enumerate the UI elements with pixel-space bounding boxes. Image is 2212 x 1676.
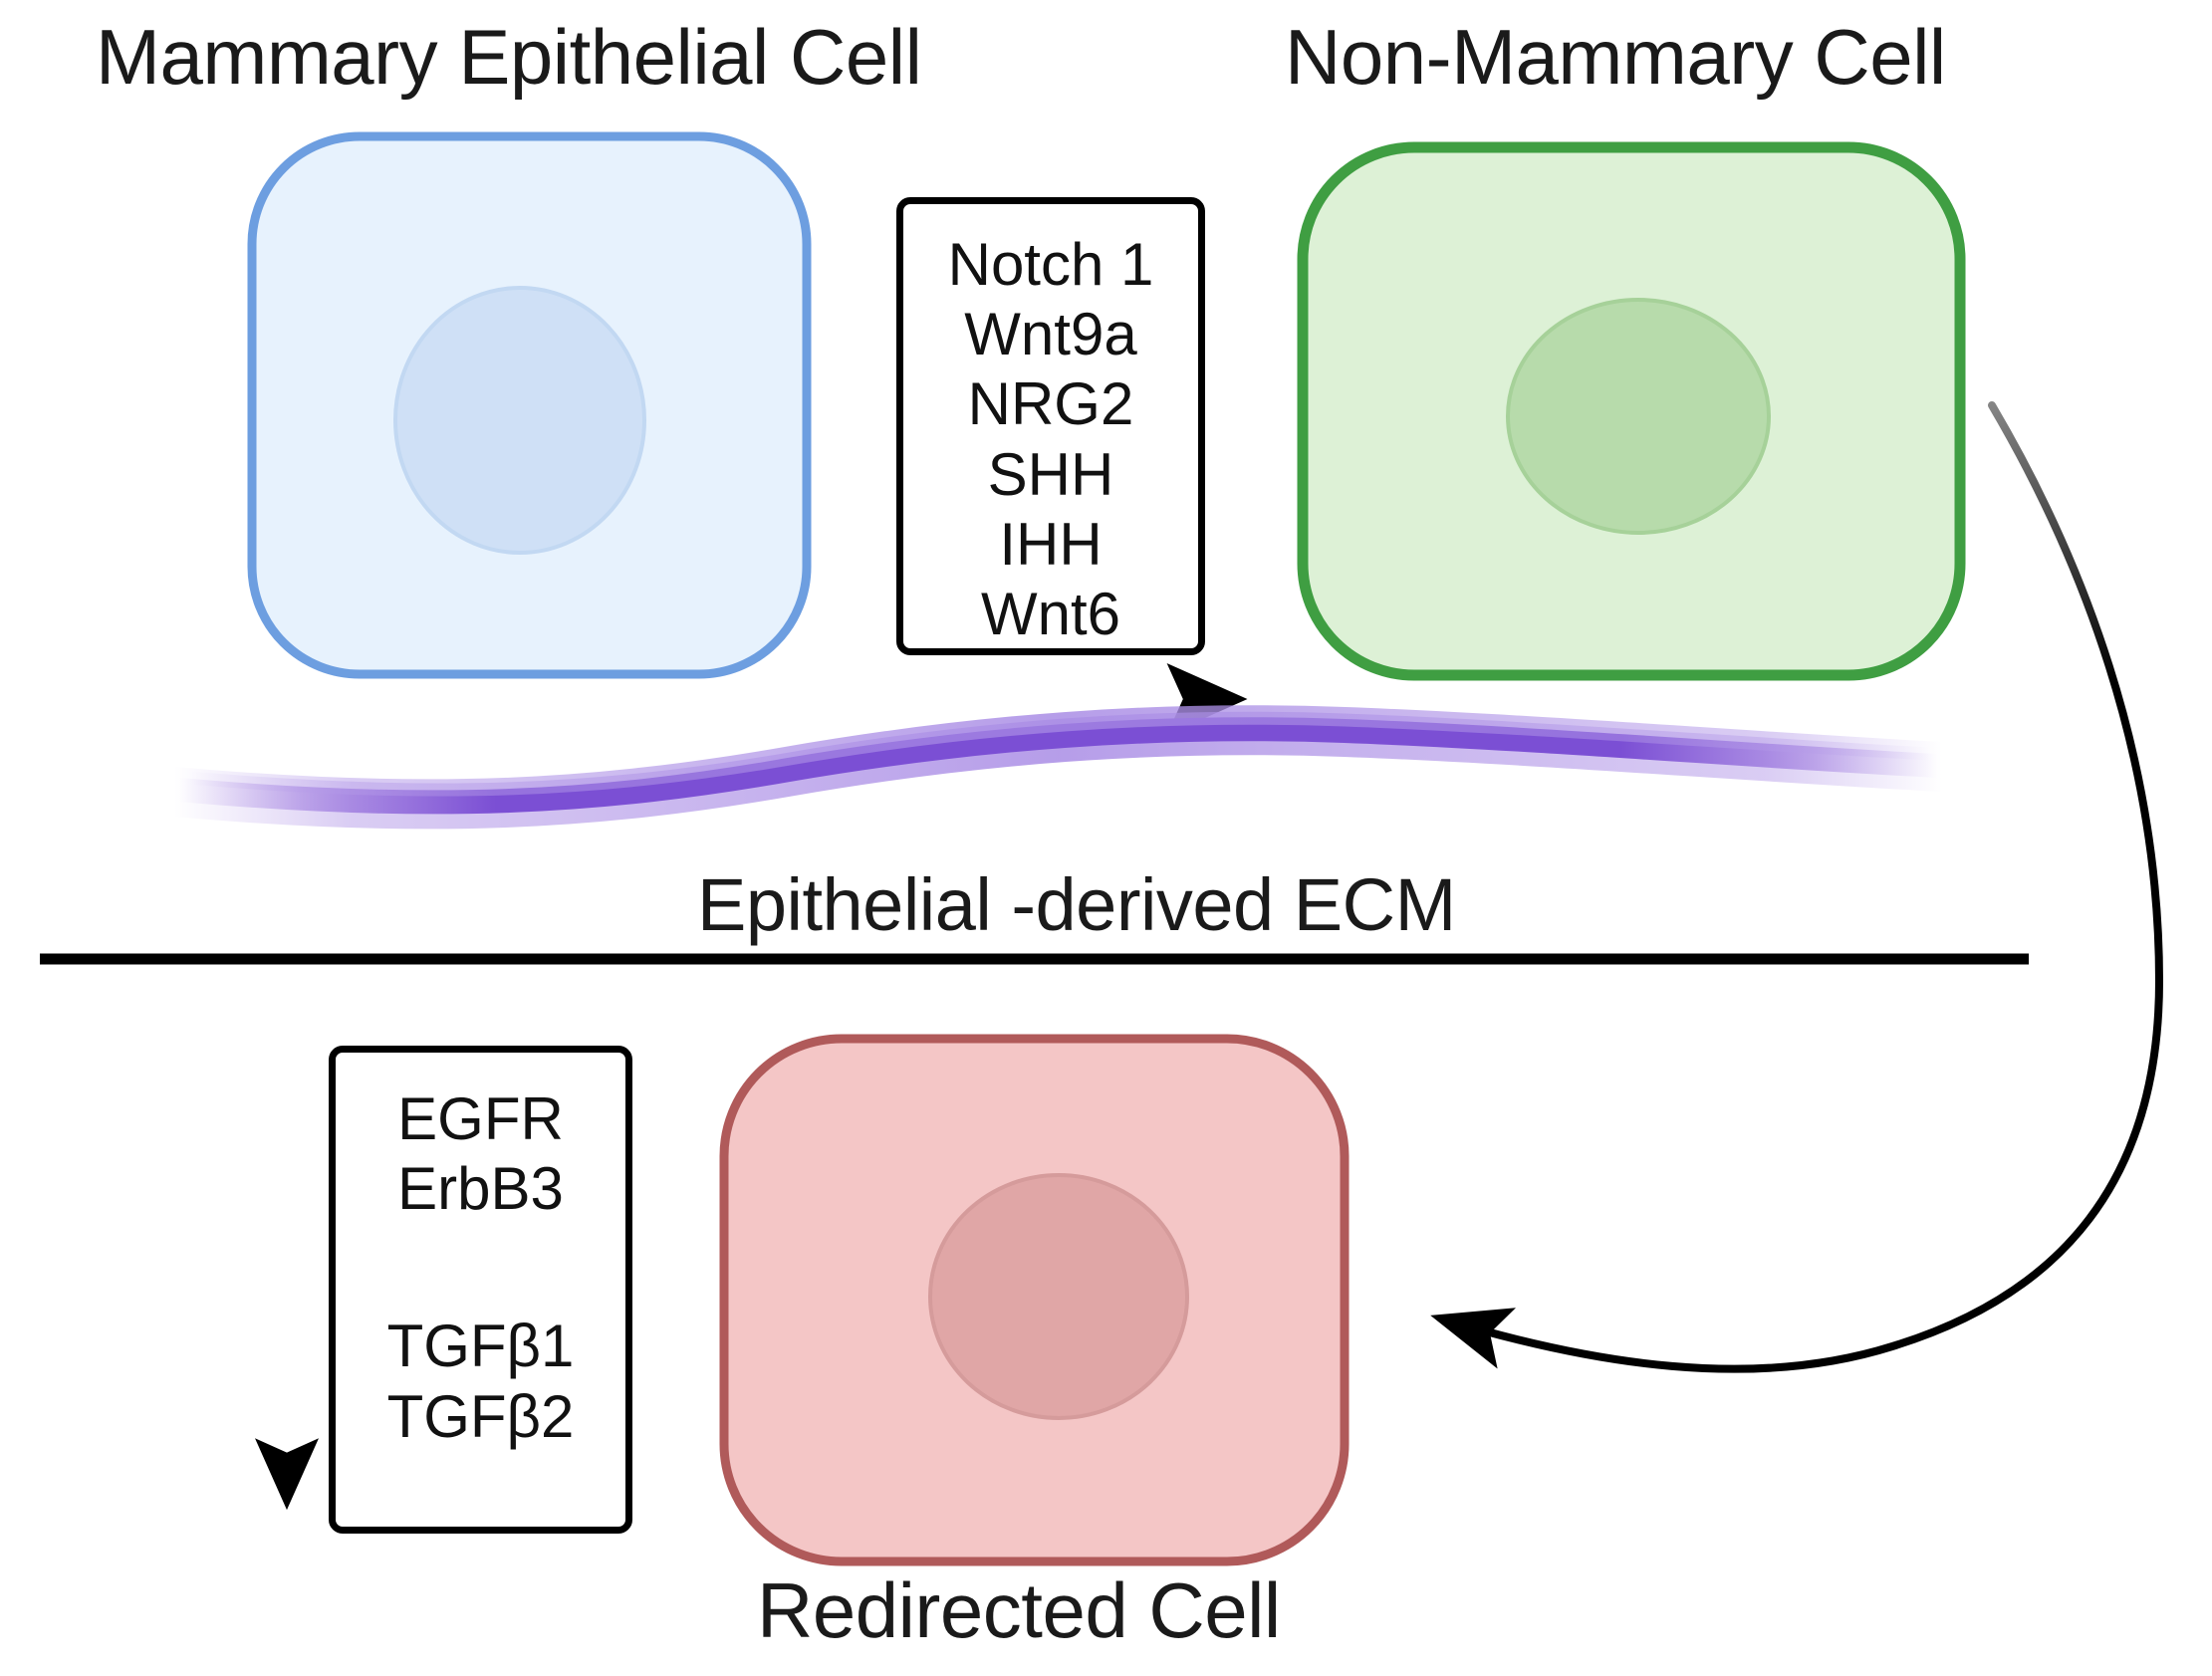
gene-item: SHH — [988, 440, 1114, 510]
cell-non-mammary — [1303, 147, 1960, 675]
gene-item: NRG2 — [968, 369, 1134, 439]
cell-mammary-epithelial — [252, 136, 807, 674]
label-redirected-cell: Redirected Cell — [757, 1571, 1281, 1649]
gene-item: IHH — [999, 510, 1102, 580]
gene-item: TGFβ1 — [387, 1312, 575, 1381]
gene-item: EGFR — [397, 1084, 564, 1154]
gene-item: Wnt6 — [981, 580, 1120, 649]
gene-item: Notch 1 — [948, 230, 1154, 300]
gene-item: TGFβ2 — [387, 1382, 575, 1452]
redirected-cell-nucleus — [930, 1175, 1187, 1418]
label-epithelial-derived-ecm: Epithelial -derived ECM — [697, 868, 1456, 942]
label-mammary-epithelial-cell: Mammary Epithelial Cell — [96, 18, 921, 96]
gene-item: ErbB3 — [397, 1154, 564, 1224]
label-non-mammary-cell: Non-Mammary Cell — [1285, 18, 1946, 96]
gene-box-redirection-factors: EGFR ErbB3 TGFβ1 TGFβ2 — [329, 1046, 632, 1534]
mammary-cell-nucleus — [395, 288, 644, 553]
cell-redirected — [724, 1039, 1345, 1561]
gene-box-secreted-factors: Notch 1 Wnt9a NRG2 SHH IHH Wnt6 — [896, 197, 1205, 655]
non-mammary-cell-nucleus — [1508, 300, 1769, 533]
figure-canvas: Mammary Epithelial Cell Non-Mammary Cell… — [0, 0, 2212, 1676]
ecm-band — [174, 718, 1942, 804]
gene-item: Wnt9a — [964, 300, 1136, 369]
